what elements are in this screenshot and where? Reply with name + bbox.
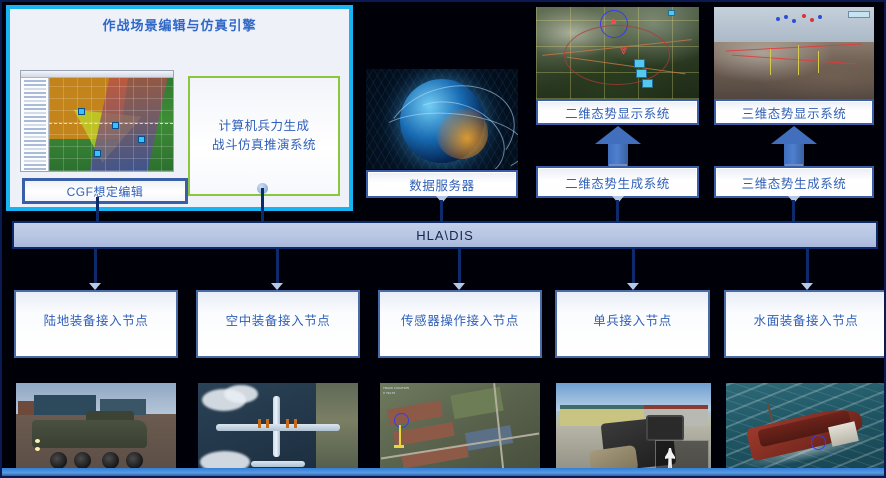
map-unit: [139, 137, 144, 142]
friendly-unit: [642, 79, 653, 88]
connector-3d: [792, 200, 795, 221]
scenario-editor-panel: 作战场景编辑与仿真引擎 CGF想定编辑 计算机兵力生成 战斗仿真推演系统: [6, 5, 353, 211]
3d-situation-generation-label: 三维态势生成系统: [742, 173, 847, 192]
cgf-simulation-box[interactable]: 计算机兵力生成 战斗仿真推演系统: [188, 76, 340, 196]
bottom-accent-band: [2, 468, 884, 476]
target-circle: [394, 413, 409, 428]
wheel: [126, 452, 143, 469]
arrow-head: [771, 126, 817, 144]
info-tag: [848, 11, 870, 18]
sensor-mark: [394, 445, 404, 448]
tailplane: [251, 461, 305, 467]
air-track: [818, 15, 822, 19]
screenshot-grid: [49, 78, 173, 171]
connector-cgf-edit: [96, 197, 99, 221]
map-unit: [95, 151, 100, 156]
architecture-diagram: 作战场景编辑与仿真引擎 CGF想定编辑 计算机兵力生成 战斗仿真推演系统: [0, 0, 886, 478]
air-track: [792, 19, 796, 23]
connector-arrow-node-3: [453, 283, 465, 290]
connector-2d: [616, 200, 619, 221]
3d-situation-generation-box[interactable]: 三维态势生成系统: [714, 166, 874, 198]
node-box-land[interactable]: 陆地装备接入节点: [14, 290, 178, 358]
cgf-scenario-edit-label: CGF想定编辑: [67, 183, 144, 200]
connector-arrow-node-4: [627, 283, 639, 290]
connector-cgf-sim: [261, 188, 264, 221]
screenshot-route-line: [49, 123, 173, 124]
wheel: [50, 452, 67, 469]
hud-text: TRACK LOCATIONX 734.76: [383, 386, 409, 395]
thumbnail-first-person-soldier: [556, 383, 711, 476]
wheel: [102, 452, 119, 469]
3d-situation-thumbnail: [714, 7, 874, 99]
air-track: [784, 15, 788, 19]
data-server-thumbnail: [366, 69, 518, 169]
node-box-air[interactable]: 空中装备接入节点: [196, 290, 360, 358]
marker-pole: [770, 49, 771, 75]
2d-situation-display-label: 二维态势显示系统: [565, 103, 670, 122]
wing: [216, 424, 341, 431]
screenshot-tree-panel: [21, 78, 49, 171]
cgf-simulation-label-line1: 计算机兵力生成: [218, 117, 309, 136]
cgf-editor-screenshot: [21, 71, 173, 171]
connector-arrow-node-2: [271, 283, 283, 290]
node-label-air: 空中装备接入节点: [226, 310, 331, 329]
data-server-label: 数据服务器: [409, 175, 475, 194]
friendly-unit: [634, 59, 645, 68]
air-track: [810, 18, 814, 22]
marker-pole: [798, 45, 799, 75]
hla-dis-label: HLA\DIS: [416, 228, 474, 243]
node-label-land: 陆地装备接入节点: [44, 310, 149, 329]
3d-situation-display-box[interactable]: 三维态势显示系统: [714, 99, 874, 125]
arrow-head: [595, 126, 641, 144]
wheel: [74, 452, 91, 469]
cloud: [224, 385, 258, 403]
hla-dis-bus: HLA\DIS: [12, 221, 878, 249]
panel-title: 作战场景编辑与仿真引擎: [10, 15, 349, 34]
weapon-pod: [286, 419, 289, 428]
connector-arrow-node-1: [89, 283, 101, 290]
map-unit: [113, 123, 118, 128]
hull: [32, 420, 147, 448]
threat-circle: [564, 25, 670, 85]
weapon-pod: [258, 419, 261, 428]
node-box-soldier[interactable]: 单兵接入节点: [555, 290, 710, 358]
thumbnail-cargo-ship: [726, 383, 886, 476]
3d-situation-display-label: 三维态势显示系统: [742, 103, 847, 122]
weapon-pod: [266, 419, 269, 428]
cgf-scenario-edit-box[interactable]: CGF想定编辑: [22, 178, 188, 204]
map-unit: [79, 109, 84, 114]
headlight: [35, 447, 40, 451]
data-server-box[interactable]: 数据服务器: [366, 170, 518, 198]
node-box-sensor[interactable]: 传感器操作接入节点: [378, 290, 542, 358]
2d-situation-generation-box[interactable]: 二维态势生成系统: [536, 166, 699, 198]
friendly-unit: [668, 10, 675, 16]
thumbnail-uav-aircraft: [198, 383, 358, 476]
thumbnail-armored-vehicle: [16, 383, 176, 476]
2d-situation-display-box[interactable]: 二维态势显示系统: [536, 99, 699, 125]
friendly-unit: [636, 69, 647, 78]
optic-sight: [646, 415, 684, 441]
weapon-pod: [294, 419, 297, 428]
building: [18, 401, 34, 415]
connector-data-server: [440, 200, 443, 221]
cgf-simulation-label-line2: 战斗仿真推演系统: [212, 136, 316, 155]
node-box-surface[interactable]: 水面装备接入节点: [724, 290, 886, 358]
2d-situation-thumbnail: ▲ ⩔: [536, 7, 699, 99]
air-track: [802, 14, 806, 18]
headlight: [35, 439, 40, 443]
2d-situation-generation-label: 二维态势生成系统: [565, 173, 670, 192]
node-label-soldier: 单兵接入节点: [593, 310, 672, 329]
sensor-line: [399, 425, 401, 447]
marker-pole: [818, 51, 819, 73]
node-label-surface: 水面装备接入节点: [754, 310, 859, 329]
screenshot-toolbar: [21, 71, 173, 78]
connector-arrow-node-5: [801, 283, 813, 290]
air-track: [776, 17, 780, 21]
target-circle: [811, 435, 826, 450]
thumbnail-satellite-imagery: TRACK LOCATIONX 734.76: [380, 383, 540, 476]
node-label-sensor: 传感器操作接入节点: [401, 310, 519, 329]
